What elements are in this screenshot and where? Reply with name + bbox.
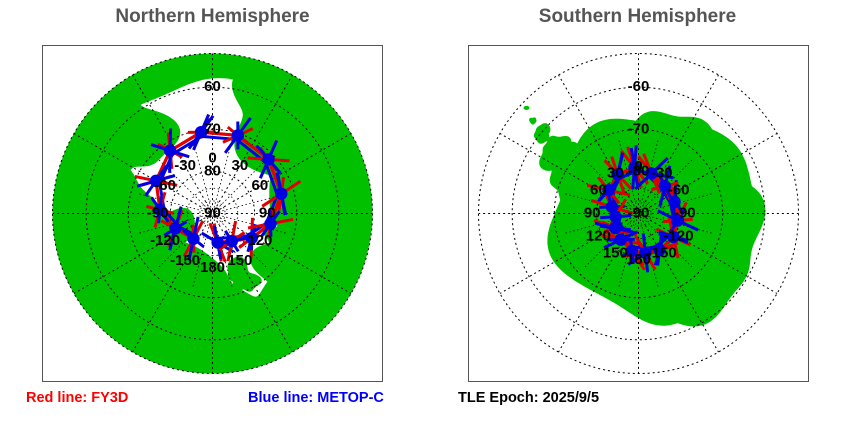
svg-text:30: 30 bbox=[232, 157, 249, 174]
svg-text:-90: -90 bbox=[674, 204, 696, 221]
svg-text:-60: -60 bbox=[628, 78, 650, 95]
svg-text:-120: -120 bbox=[150, 232, 180, 249]
legend-red-line: Red line: FY3D bbox=[26, 390, 128, 406]
svg-text:0: 0 bbox=[634, 158, 642, 175]
svg-text:-60: -60 bbox=[154, 177, 176, 194]
svg-text:-30: -30 bbox=[174, 157, 196, 174]
svg-text:-60: -60 bbox=[668, 181, 690, 198]
legend-blue-line: Blue line: METOP-C bbox=[248, 390, 384, 406]
svg-text:-30: -30 bbox=[651, 164, 673, 181]
northern-plot-frame: 908070600306090120150180-150-120-90-60-3… bbox=[42, 45, 383, 382]
svg-text:60: 60 bbox=[590, 181, 607, 198]
svg-text:90: 90 bbox=[204, 204, 221, 221]
svg-text:-150: -150 bbox=[170, 252, 200, 269]
svg-text:180: 180 bbox=[200, 259, 225, 276]
southern-panel-title: Southern Hemisphere bbox=[425, 6, 850, 28]
svg-text:-120: -120 bbox=[664, 228, 694, 245]
northern-polar-plot: 908070600306090120150180-150-120-90-60-3… bbox=[43, 46, 382, 381]
svg-text:-90: -90 bbox=[147, 204, 169, 221]
southern-plot-frame: -90-80-70-600306090120150180-150-120-90-… bbox=[468, 45, 809, 382]
northern-panel-title: Northern Hemisphere bbox=[0, 6, 425, 28]
svg-text:30: 30 bbox=[607, 164, 624, 181]
svg-text:-90: -90 bbox=[628, 204, 650, 221]
svg-text:60: 60 bbox=[204, 78, 221, 95]
legend-tle-epoch: TLE Epoch: 2025/9/5 bbox=[458, 390, 599, 406]
southern-polar-plot: -90-80-70-600306090120150180-150-120-90-… bbox=[469, 46, 808, 381]
svg-text:120: 120 bbox=[586, 228, 611, 245]
svg-text:150: 150 bbox=[227, 252, 252, 269]
northern-hemisphere-panel: Northern Hemisphere 90807060030609012015… bbox=[0, 0, 425, 390]
southern-hemisphere-panel: Southern Hemisphere -90-80-70-6003060901… bbox=[425, 0, 850, 390]
svg-text:90: 90 bbox=[584, 204, 601, 221]
svg-text:70: 70 bbox=[204, 120, 221, 137]
figure-root: Northern Hemisphere 90807060030609012015… bbox=[0, 0, 850, 425]
svg-text:-70: -70 bbox=[628, 120, 650, 137]
svg-text:0: 0 bbox=[208, 150, 216, 167]
legend-footer: Red line: FY3D Blue line: METOP-C TLE Ep… bbox=[0, 390, 850, 425]
svg-text:150: 150 bbox=[603, 245, 628, 262]
svg-text:-150: -150 bbox=[647, 245, 677, 262]
svg-text:90: 90 bbox=[259, 204, 276, 221]
svg-text:60: 60 bbox=[252, 177, 269, 194]
svg-text:120: 120 bbox=[247, 232, 272, 249]
